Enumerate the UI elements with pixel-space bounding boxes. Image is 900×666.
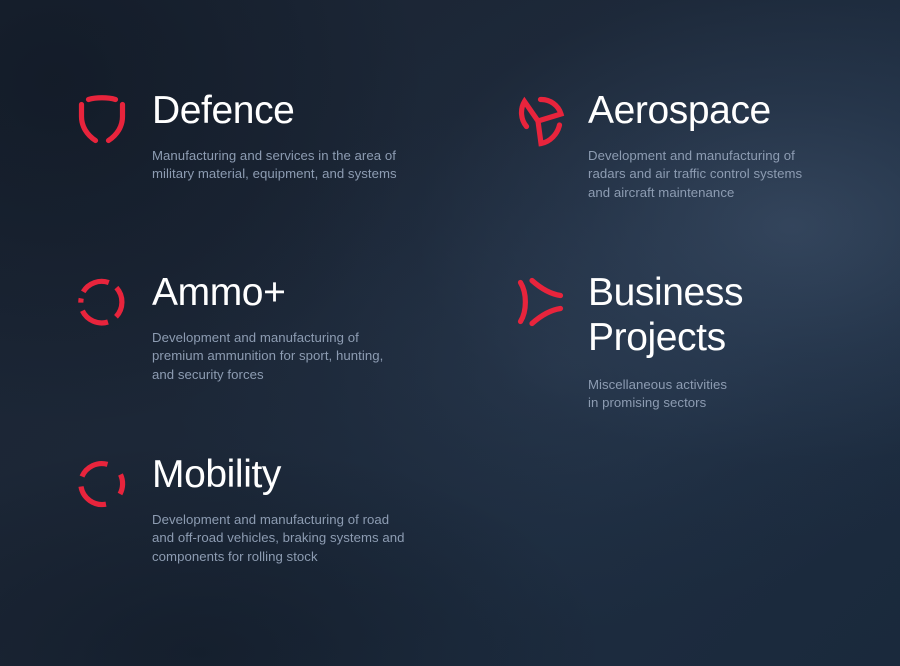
division-card-business-projects[interactable]: Business Projects Miscellaneous activiti… — [510, 270, 743, 413]
division-body: Aerospace Development and manufacturing … — [588, 88, 802, 202]
division-description: Development and manufacturing of road an… — [152, 511, 405, 566]
broken-ring-icon — [74, 456, 130, 512]
curved-triangle-icon — [510, 274, 566, 330]
division-body: Ammo+ Development and manufacturing of p… — [152, 270, 383, 384]
division-title: Aerospace — [588, 88, 802, 133]
division-body: Business Projects Miscellaneous activiti… — [588, 270, 743, 413]
division-description: Development and manufacturing of premium… — [152, 329, 383, 384]
division-description: Development and manufacturing of radars … — [588, 147, 802, 202]
divisions-grid: Defence Manufacturing and services in th… — [0, 0, 900, 666]
division-body: Mobility Development and manufacturing o… — [152, 452, 405, 566]
division-card-aerospace[interactable]: Aerospace Development and manufacturing … — [510, 88, 802, 202]
turbine-icon — [510, 92, 566, 148]
division-card-mobility[interactable]: Mobility Development and manufacturing o… — [74, 452, 405, 566]
division-card-defence[interactable]: Defence Manufacturing and services in th… — [74, 88, 397, 184]
division-title: Ammo+ — [152, 270, 383, 315]
ring-notched-icon — [74, 274, 130, 330]
division-title: Mobility — [152, 452, 405, 497]
division-body: Defence Manufacturing and services in th… — [152, 88, 397, 184]
division-title: Business Projects — [588, 270, 743, 360]
division-description: Manufacturing and services in the area o… — [152, 147, 397, 184]
division-title: Defence — [152, 88, 397, 133]
division-description: Miscellaneous activities in promising se… — [588, 376, 743, 413]
shield-icon — [74, 92, 130, 148]
division-card-ammo[interactable]: Ammo+ Development and manufacturing of p… — [74, 270, 383, 384]
